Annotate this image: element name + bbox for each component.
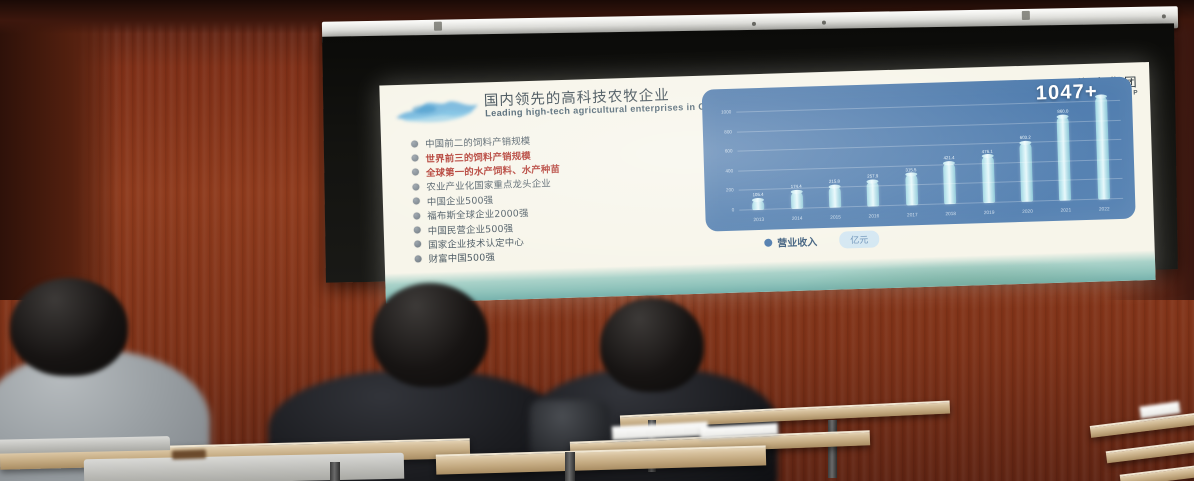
bar-rect: 174.4 <box>790 192 803 209</box>
bullet-dot-icon <box>411 154 418 161</box>
chart-x-axis-labels: 2013201420152016201720182019202020212022 <box>740 207 1124 224</box>
chart-y-tick-200: 200 <box>726 188 734 193</box>
chart-bar-2022 <box>1082 101 1123 200</box>
desk-leg <box>565 452 575 481</box>
chart-x-label-2020: 2020 <box>1008 209 1047 215</box>
bar-value-label: 315.5 <box>905 167 916 172</box>
chart-y-tick-1000: 1000 <box>721 109 731 114</box>
bar-rect: 860.0 <box>1057 116 1072 201</box>
chart-x-label-2014: 2014 <box>778 216 817 222</box>
bullet-dot-icon <box>412 169 419 176</box>
legend-series-revenue: 营业收入 <box>764 233 817 250</box>
chart-unit-badge: 亿元 <box>839 230 880 248</box>
bar-value-label: 257.9 <box>867 174 878 179</box>
chart-bar-2021: 860.0 <box>1043 102 1084 201</box>
chart-x-label-2013: 2013 <box>740 217 779 223</box>
desk-leg <box>828 420 837 478</box>
chart-bar-2020: 603.2 <box>1005 103 1046 202</box>
bar-value-label: 860.0 <box>1057 109 1068 114</box>
student-center-head <box>372 283 488 387</box>
bar-value-label: 603.2 <box>1020 135 1031 140</box>
bar-rect <box>1095 97 1110 200</box>
bullet-dot-icon <box>413 198 420 205</box>
bullet-label: 中国企业500强 <box>427 192 494 208</box>
classroom-scene: 国内领先的高科技农牧企业 Leading high-tech agricultu… <box>0 0 1194 481</box>
chart-x-label-2017: 2017 <box>893 213 932 219</box>
bar-value-label: 421.4 <box>943 155 954 160</box>
bullet-dot-icon <box>413 212 420 219</box>
legend-dot-icon <box>764 238 772 246</box>
bullet-dot-icon <box>415 255 422 262</box>
chart-x-label-2018: 2018 <box>931 212 970 218</box>
chart-x-label-2015: 2015 <box>816 215 855 221</box>
bar-value-label: 215.8 <box>829 179 840 184</box>
ink-wash-mountain-decoration <box>394 94 481 125</box>
revenue-chart-panel: 1047+ 105.4174.4215.8257.9315.5421.4476.… <box>702 77 1136 232</box>
chart-x-label-2021: 2021 <box>1047 208 1086 214</box>
bar-value-label: 476.1 <box>982 149 993 154</box>
chart-x-label-2016: 2016 <box>855 214 894 220</box>
chart-y-tick-0: 0 <box>732 207 735 212</box>
wall-shadow-left <box>0 0 120 300</box>
bullet-dot-icon <box>412 183 419 190</box>
projection-screen-assembly: 国内领先的高科技农牧企业 Leading high-tech agricultu… <box>316 0 1182 300</box>
presentation-slide: 国内领先的高科技农牧企业 Leading high-tech agricultu… <box>379 62 1155 303</box>
bullet-dot-icon <box>411 140 418 147</box>
achievements-bullet-list: 中国前二的饲料产销规模世界前三的饲料产销规模全球第一的水产饲料、水产种苗农业产业… <box>411 128 685 266</box>
chart-y-tick-600: 600 <box>725 148 733 153</box>
chart-bar-2014: 174.4 <box>775 110 816 209</box>
student-right-head <box>600 298 704 392</box>
chart-bars: 105.4174.4215.8257.9315.5421.4476.1603.2… <box>736 101 1123 211</box>
bullet-label: 财富中国500强 <box>428 249 495 265</box>
chart-bar-2013: 105.4 <box>736 111 777 210</box>
bullet-label: 国家企业技术认定中心 <box>428 234 524 251</box>
legend-series-label: 营业收入 <box>777 233 817 249</box>
chart-x-label-2019: 2019 <box>970 210 1009 216</box>
chart-legend: 营业收入 亿元 <box>764 230 879 251</box>
bullet-dot-icon <box>414 226 421 233</box>
chart-bar-2018: 421.4 <box>928 106 969 205</box>
chart-y-tick-800: 800 <box>724 129 732 134</box>
bar-rect: 315.5 <box>905 174 918 205</box>
bar-rect: 215.8 <box>829 186 842 207</box>
chart-plot-area: 105.4174.4215.8257.9315.5421.4476.1603.2… <box>736 101 1123 211</box>
student-left-head <box>10 278 128 376</box>
desk-leg <box>330 462 340 481</box>
chart-bar-2016: 257.9 <box>851 108 892 207</box>
desk-object <box>172 449 206 459</box>
bar-value-label: 105.4 <box>752 192 763 197</box>
chart-y-tick-400: 400 <box>725 168 733 173</box>
bullet-dot-icon <box>414 241 421 248</box>
chart-x-label-2022: 2022 <box>1085 207 1124 213</box>
bar-rect: 603.2 <box>1019 143 1033 202</box>
screen-black-border: 国内领先的高科技农牧企业 Leading high-tech agricultu… <box>322 23 1178 282</box>
chart-bar-2015: 215.8 <box>813 109 854 208</box>
chart-bar-2017: 315.5 <box>890 107 931 206</box>
chart-bar-2019: 476.1 <box>967 104 1008 203</box>
